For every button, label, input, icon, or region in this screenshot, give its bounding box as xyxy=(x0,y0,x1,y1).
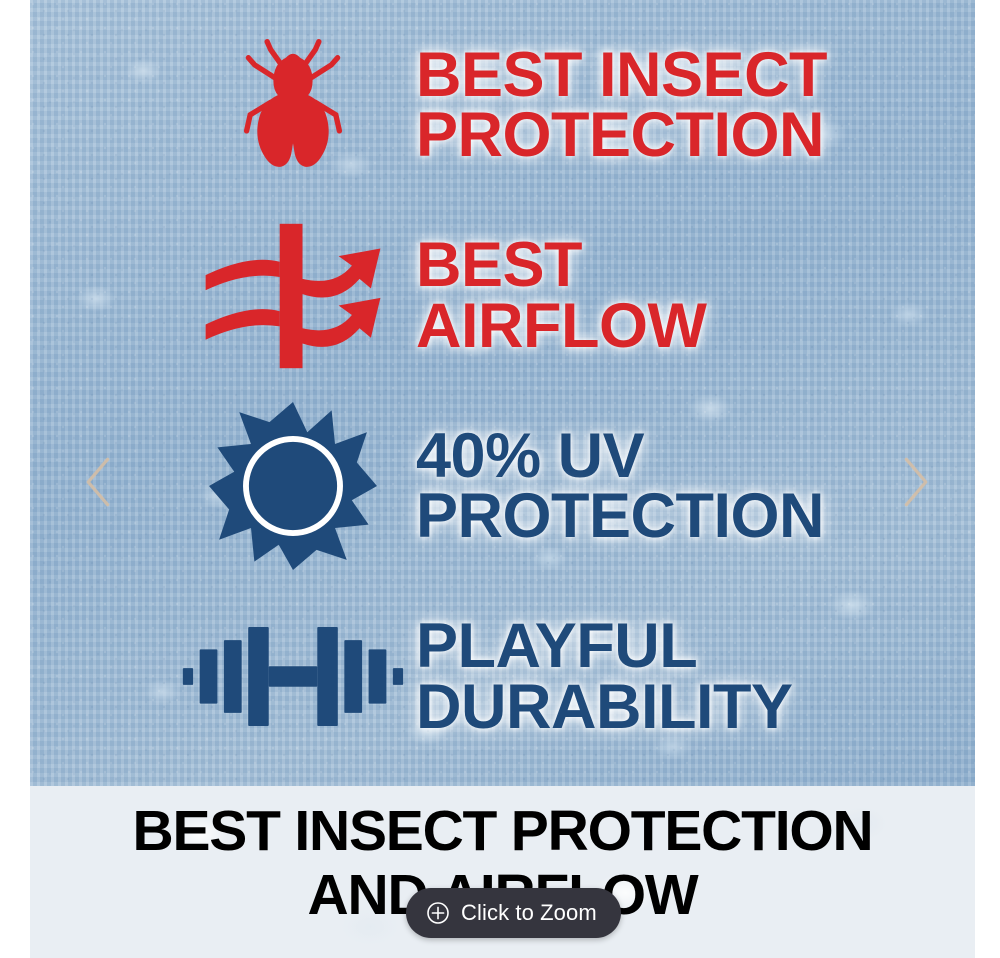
fly-insect-icon xyxy=(178,38,408,172)
click-to-zoom-label: Click to Zoom xyxy=(461,900,597,926)
dumbbell-icon xyxy=(178,625,408,728)
feature-label-airflow: BEST AIRFLOW xyxy=(408,235,706,356)
feature-image-panel[interactable]: BEST INSECT PROTECTION BEST AIRFLOW xyxy=(30,0,975,786)
feature-label-uv: 40% UV PROTECTION xyxy=(408,426,824,547)
chevron-left-icon[interactable] xyxy=(76,455,122,509)
click-to-zoom-button[interactable]: Click to Zoom xyxy=(406,888,621,938)
feature-row-insect: BEST INSECT PROTECTION xyxy=(30,10,975,201)
chevron-right-icon[interactable] xyxy=(892,455,938,509)
feature-row-uv: 40% UV PROTECTION xyxy=(30,391,975,582)
feature-list: BEST INSECT PROTECTION BEST AIRFLOW xyxy=(30,0,975,786)
feature-row-airflow: BEST AIRFLOW xyxy=(30,201,975,392)
feature-row-durability: PLAYFUL DURABILITY xyxy=(30,582,975,773)
feature-label-insect: BEST INSECT PROTECTION xyxy=(408,45,827,166)
airflow-arrows-icon xyxy=(178,220,408,372)
product-image-viewer[interactable]: BEST INSECT PROTECTION BEST AIRFLOW xyxy=(0,0,1000,958)
plus-circle-icon xyxy=(426,901,450,925)
sun-uv-icon xyxy=(178,402,408,570)
feature-label-durability: PLAYFUL DURABILITY xyxy=(408,616,792,737)
